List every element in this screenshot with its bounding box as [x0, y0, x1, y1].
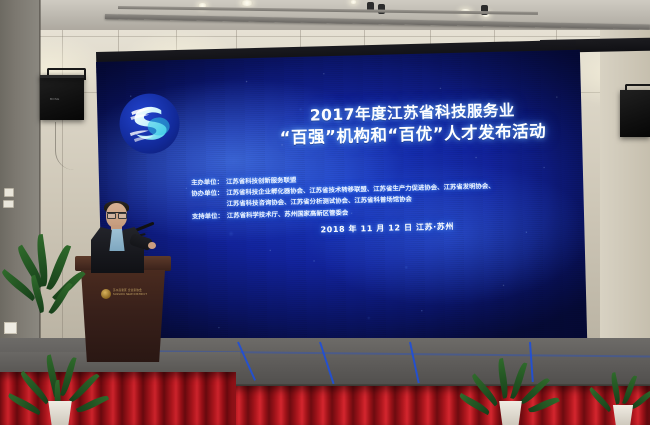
podium-front-panel: 苏州高新区 企业家协会 SUZHOU NEW DISTRICT: [81, 270, 165, 362]
potted-plant-front-right: [478, 358, 540, 425]
potted-plant-left-stage: [18, 226, 64, 342]
podium-plate-line-2: SUZHOU NEW DISTRICT: [113, 293, 153, 297]
plant-pot: [497, 401, 524, 425]
right-wall-pillar: [600, 30, 650, 360]
jiangsu-science-service-logo: [119, 93, 180, 154]
ceiling-spotlight: [241, 0, 253, 6]
gold-emblem-icon: [101, 289, 111, 299]
person-hand: [148, 242, 156, 249]
organizer-label: 支持单位：: [192, 210, 227, 222]
wall-box: [4, 322, 17, 334]
plant-pot: [611, 405, 635, 425]
potted-plant-front-left: [28, 352, 90, 425]
speaker-person: [78, 203, 162, 273]
ceiling-spotlight: [350, 0, 357, 4]
conference-photo-scene: 2017年度江苏省科技服务业 “百强”机构和“百优”人才发布活动 主办单位： 江…: [0, 0, 650, 425]
ceiling: [0, 0, 650, 34]
speaker-brand-label: BOSE: [50, 97, 60, 101]
podium-plate-text: 苏州高新区 企业家协会 SUZHOU NEW DISTRICT: [113, 289, 153, 297]
organizer-label: 主办单位：: [191, 177, 226, 189]
potted-plant-far-right: [596, 372, 646, 425]
glasses-icon: [107, 212, 126, 217]
wall-outlet: [3, 200, 14, 208]
screen-headline: 2017年度江苏省科技服务业 “百强”机构和“百优”人才发布活动: [247, 100, 578, 149]
organizer-label: 协办单位：: [191, 188, 226, 200]
wall-outlet: [4, 188, 14, 197]
plant-pot: [46, 401, 74, 425]
